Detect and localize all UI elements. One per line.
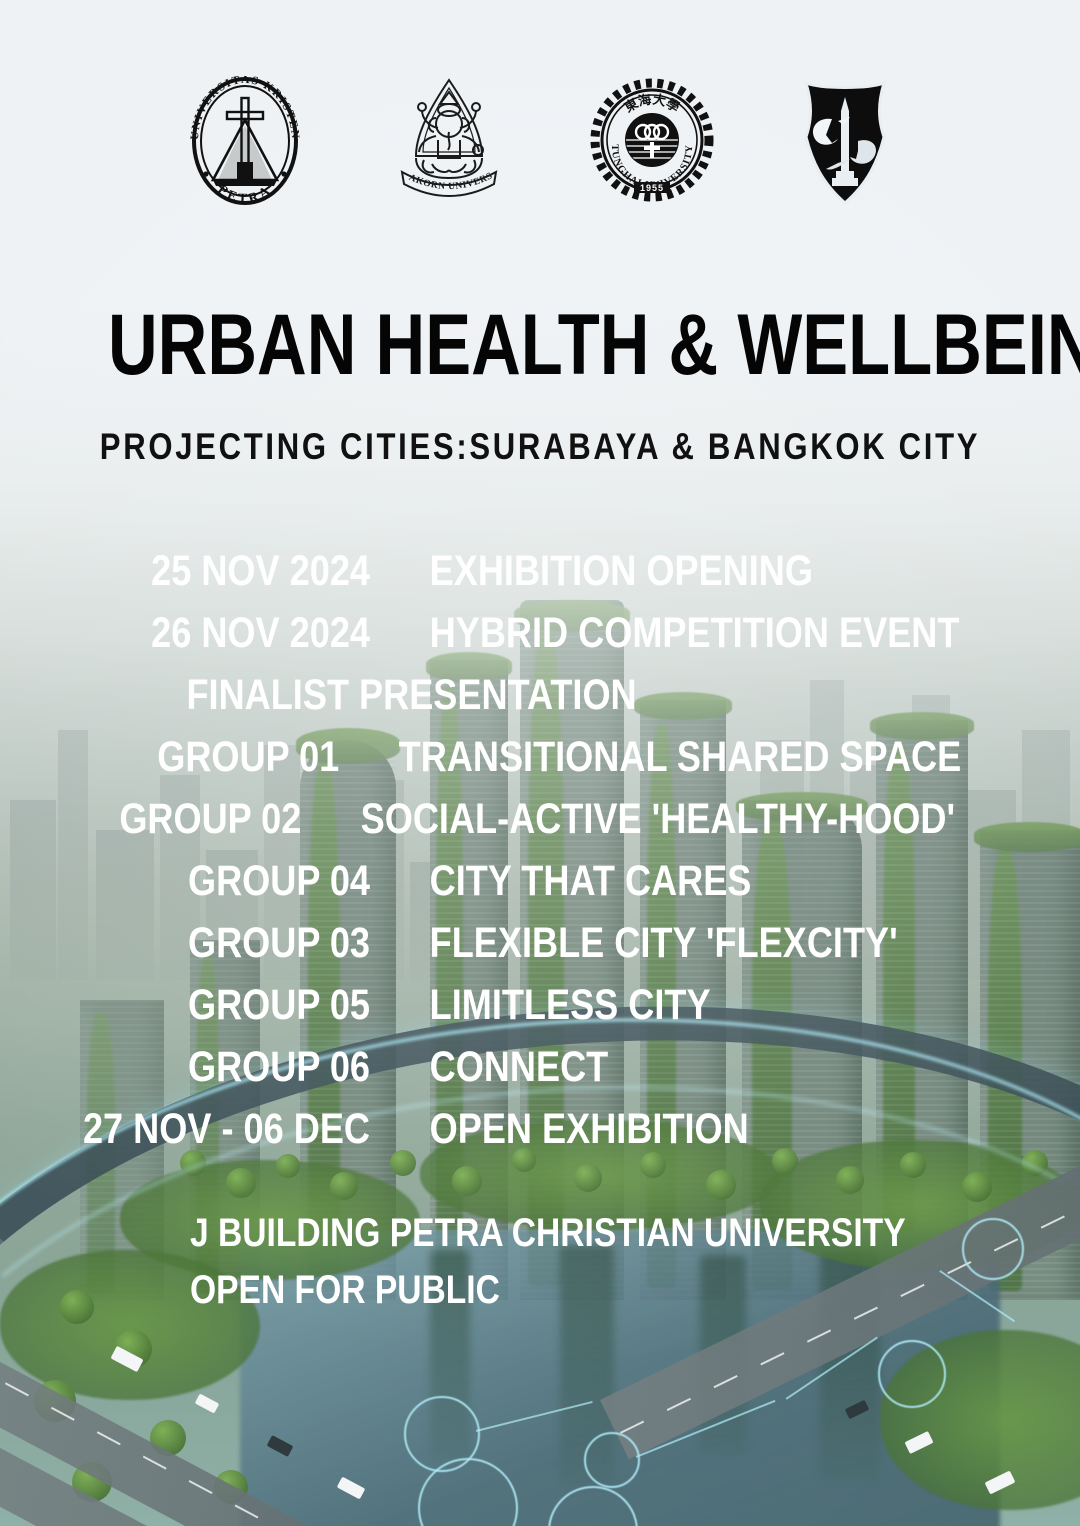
schedule-group: GROUP 04 [59,850,370,912]
schedule-project: FLEXIBLE CITY 'FLEXCITY' [370,912,966,974]
poster-subtitle: PROJECTING CITIES:SURABAYA & BANGKOK CIT… [86,428,993,465]
schedule-event: HYBRID COMPETITION EVENT [370,602,966,664]
partner-logos-row: UNIVERSITAS KRISTEN PETRA [0,74,1080,208]
schedule-date: 25 NOV 2024 [59,540,370,602]
schedule-row: GROUP 03 FLEXIBLE CITY 'FLEXCITY' [0,912,1080,974]
schedule-project: CITY THAT CARES [370,850,966,912]
schedule-project: CONNECT [370,1036,966,1098]
schedule-row: 27 NOV - 06 DEC OPEN EXHIBITION [0,1098,1080,1160]
schedule-event: EXHIBITION OPENING [370,540,966,602]
svg-text:1955: 1955 [640,183,664,193]
venue-location: J BUILDING PETRA CHRISTIAN UNIVERSITY [190,1205,906,1262]
silpakorn-university-logo: SILPAKORN UNIVERSITY [386,74,512,208]
schedule-project: TRANSITIONAL SHARED SPACE [339,726,961,788]
petra-christian-university-logo: UNIVERSITAS KRISTEN PETRA [182,76,308,206]
schedule-row: 26 NOV 2024 HYBRID COMPETITION EVENT [0,602,1080,664]
schedule-event: OPEN EXHIBITION [370,1098,966,1160]
poster-content: UNIVERSITAS KRISTEN PETRA [0,0,1080,1526]
poster: UNIVERSITAS KRISTEN PETRA [0,0,1080,1526]
schedule-group: GROUP 02 [48,788,301,850]
schedule-group: GROUP 03 [59,912,370,974]
schedule-list: 25 NOV 2024 EXHIBITION OPENING 26 NOV 20… [0,540,1080,1160]
poster-title: URBAN HEALTH & WELLBEING [108,302,972,388]
surabaya-city-emblem [792,75,898,207]
schedule-row: GROUP 02 SOCIAL-ACTIVE 'HEALTHY-HOOD' [0,788,1080,850]
schedule-group: GROUP 01 [54,726,339,788]
schedule-row: GROUP 01 TRANSITIONAL SHARED SPACE [0,726,1080,788]
schedule-group: GROUP 06 [59,1036,370,1098]
schedule-row: GROUP 06 CONNECT [0,1036,1080,1098]
schedule-row: 25 NOV 2024 EXHIBITION OPENING [0,540,1080,602]
venue-access-note: OPEN FOR PUBLIC [190,1262,906,1319]
finalist-presentation-heading: FINALIST PRESENTATION [0,664,907,726]
schedule-project: SOCIAL-ACTIVE 'HEALTHY-HOOD' [301,788,955,850]
schedule-row: GROUP 05 LIMITLESS CITY [0,974,1080,1036]
schedule-group: GROUP 05 [59,974,370,1036]
tunghai-university-logo: 東海大學 TUNGHAI UNIVERSITY 1955 [590,78,714,204]
schedule-project: LIMITLESS CITY [370,974,966,1036]
schedule-row: GROUP 04 CITY THAT CARES [0,850,1080,912]
schedule-date: 26 NOV 2024 [59,602,370,664]
schedule-date: 27 NOV - 06 DEC [59,1098,370,1160]
venue-block: J BUILDING PETRA CHRISTIAN UNIVERSITY OP… [190,1205,906,1319]
